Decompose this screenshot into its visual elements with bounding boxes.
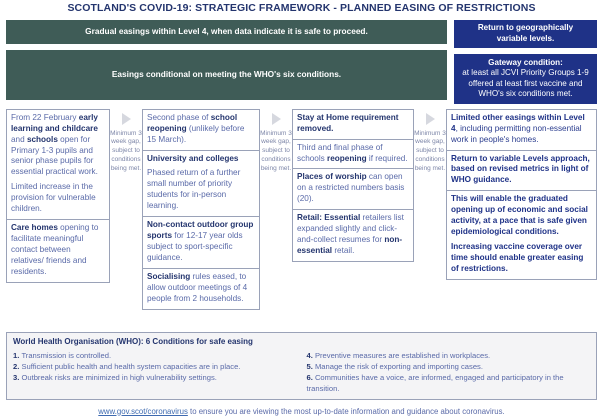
phase-card-emphasis: Care homes (11, 223, 58, 232)
phase-card-emphasis: reopening (327, 154, 367, 163)
phase-card-paragraph: Phased return of a further small number … (147, 168, 255, 212)
coronavirus-link[interactable]: www.gov.scot/coronavirus (98, 407, 188, 416)
phase-card-paragraph: Retail: Essential retailers list expande… (297, 213, 409, 257)
phase-card-paragraph: This will enable the graduated opening u… (451, 194, 592, 238)
who-condition-number: 6. (307, 373, 315, 382)
phase-card-emphasis: Increasing vaccine coverage over time sh… (451, 242, 583, 273)
phase-card: Places of worship can open on a restrict… (293, 169, 413, 210)
who-condition-item: 2. Sufficient public health and health s… (13, 361, 297, 372)
phase-card: Non-contact outdoor group sports for 12-… (143, 217, 259, 269)
phase-card-paragraph: Non-contact outdoor group sports for 12-… (147, 220, 255, 264)
who-condition-item: 4. Preventive measures are established i… (307, 350, 591, 361)
phase-card: This will enable the graduated opening u… (447, 191, 596, 279)
phase-card: Second phase of school reopening (unlike… (143, 110, 259, 151)
gap-separator-2: Minimum 3 week gap, subject to condition… (260, 109, 292, 174)
phase-column-1: From 22 February early learning and chil… (6, 109, 110, 284)
who-condition-number: 5. (307, 362, 315, 371)
who-condition-text: Preventive measures are established in w… (315, 351, 490, 360)
phase-card-text: Phased return of a further small number … (147, 168, 240, 210)
gap-label-2: Minimum 3 week gap, subject to condition… (260, 130, 292, 174)
navy-box-1-heading: Return to geographically (478, 23, 573, 34)
phase-card: University and collegesPhased return of … (143, 151, 259, 218)
who-conditions-right: 4. Preventive measures are established i… (297, 350, 591, 394)
who-condition-item: 1. Transmission is controlled. (13, 350, 297, 361)
gap-label-3: Minimum 3 week gap, subject to condition… (414, 130, 446, 174)
phase-card-emphasis: Return to variable Levels approach, base… (451, 154, 590, 185)
who-condition-text: Transmission is controlled. (21, 351, 111, 360)
navy-box-return-to-levels: Return to geographically variable levels… (454, 20, 597, 48)
navy-box-1-body: variable levels. (497, 34, 555, 45)
who-conditions-panel: World Health Organisation (WHO): 6 Condi… (6, 332, 597, 400)
phase-card: Limited other easings within Level 4, in… (447, 110, 596, 151)
gap-separator-3: Minimum 3 week gap, subject to condition… (414, 109, 446, 174)
who-panel-title: World Health Organisation (WHO): 6 Condi… (13, 337, 590, 346)
teal-bar-gradual-easings: Gradual easings within Level 4, when dat… (6, 20, 447, 44)
phase-card-paragraph: Limited other easings within Level 4, in… (451, 113, 592, 146)
phase-column-3: Stay at Home requirement removed.Third a… (292, 109, 414, 263)
phase-card-emphasis: Socialising (147, 272, 190, 281)
phase-card-paragraph: Increasing vaccine coverage over time sh… (451, 242, 592, 275)
phase-card: Return to variable Levels approach, base… (447, 151, 596, 192)
navy-box-gateway-condition: Gateway condition: at least all JCVI Pri… (454, 54, 597, 104)
who-condition-item: 3. Outbreak risks are minimized in high … (13, 372, 297, 383)
phase-card-paragraph: From 22 February early learning and chil… (11, 113, 105, 179)
teal-bar-who-conditions: Easings conditional on meeting the WHO's… (6, 50, 447, 100)
navy-box-2-body: at least all JCVI Priority Groups 1-9 of… (458, 68, 593, 100)
gap-separator-1: Minimum 3 week gap, subject to condition… (110, 109, 142, 174)
top-band: Gradual easings within Level 4, when dat… (6, 20, 597, 100)
footer-text: to ensure you are viewing the most up-to… (188, 407, 505, 416)
page-title: SCOTLAND'S COVID-19: STRATEGIC FRAMEWORK… (6, 0, 597, 20)
phase-card-emphasis: schools (27, 135, 58, 144)
phase-card-paragraph: Return to variable Levels approach, base… (451, 154, 592, 187)
phase-column-4: Limited other easings within Level 4, in… (446, 109, 597, 281)
phase-card: From 22 February early learning and chil… (7, 110, 109, 221)
top-band-right: Return to geographically variable levels… (454, 20, 597, 100)
phase-card: Third and final phase of schools reopeni… (293, 140, 413, 170)
phase-card-text: , including permitting non-essential wor… (451, 124, 582, 144)
phase-card-emphasis: Stay at Home requirement removed. (297, 113, 398, 133)
phase-card-paragraph: University and colleges (147, 154, 255, 165)
right-arrow-icon (272, 113, 281, 125)
gap-label-1: Minimum 3 week gap, subject to condition… (110, 130, 142, 174)
phase-card-paragraph: Second phase of school reopening (unlike… (147, 113, 255, 146)
phase-card: Socialising rules eased, to allow outdoo… (143, 269, 259, 309)
who-condition-text: Communities have a voice, are informed, … (307, 373, 564, 393)
phase-card-text: and (11, 135, 27, 144)
phase-column-2: Second phase of school reopening (unlike… (142, 109, 260, 311)
phase-card-text: if required. (367, 154, 408, 163)
phase-card-text: Limited increase in the provision for vu… (11, 182, 96, 213)
phase-card-emphasis: Retail: Essential (297, 213, 360, 222)
right-arrow-icon (426, 113, 435, 125)
infographic-page: SCOTLAND'S COVID-19: STRATEGIC FRAMEWORK… (0, 0, 603, 414)
navy-box-2-heading: Gateway condition: (488, 58, 563, 69)
phase-card: Retail: Essential retailers list expande… (293, 210, 413, 261)
phase-card: Care homes opening to facilitate meaning… (7, 220, 109, 282)
phase-card-paragraph: Limited increase in the provision for vu… (11, 182, 105, 215)
phase-card-emphasis: University and colleges (147, 154, 238, 163)
who-condition-item: 5. Manage the risk of exporting and impo… (307, 361, 591, 372)
who-conditions-left: 1. Transmission is controlled.2. Suffici… (13, 350, 297, 394)
who-condition-text: Sufficient public health and health syst… (21, 362, 240, 371)
who-condition-text: Outbreak risks are minimized in high vul… (21, 373, 216, 382)
who-conditions-columns: 1. Transmission is controlled.2. Suffici… (13, 350, 590, 394)
phase-card-text: From 22 February (11, 113, 79, 122)
who-condition-text: Manage the risk of exporting and importi… (315, 362, 483, 371)
right-arrow-icon (122, 113, 131, 125)
top-band-left: Gradual easings within Level 4, when dat… (6, 20, 447, 100)
footer-note: www.gov.scot/coronavirus to ensure you a… (6, 400, 597, 416)
phase-card-text: Second phase of (147, 113, 211, 122)
who-condition-number: 4. (307, 351, 315, 360)
phase-card: Stay at Home requirement removed. (293, 110, 413, 140)
phase-card-paragraph: Places of worship can open on a restrict… (297, 172, 409, 205)
phase-card-paragraph: Third and final phase of schools reopeni… (297, 143, 409, 165)
phase-card-text: retail. (332, 246, 354, 255)
phase-card-emphasis: Places of worship (297, 172, 367, 181)
phase-columns: From 22 February early learning and chil… (6, 109, 597, 323)
who-condition-item: 6. Communities have a voice, are informe… (307, 372, 591, 394)
phase-card-emphasis: This will enable the graduated opening u… (451, 194, 588, 236)
phase-card-paragraph: Socialising rules eased, to allow outdoo… (147, 272, 255, 305)
phase-card-paragraph: Care homes opening to facilitate meaning… (11, 223, 105, 278)
phase-card-paragraph: Stay at Home requirement removed. (297, 113, 409, 135)
